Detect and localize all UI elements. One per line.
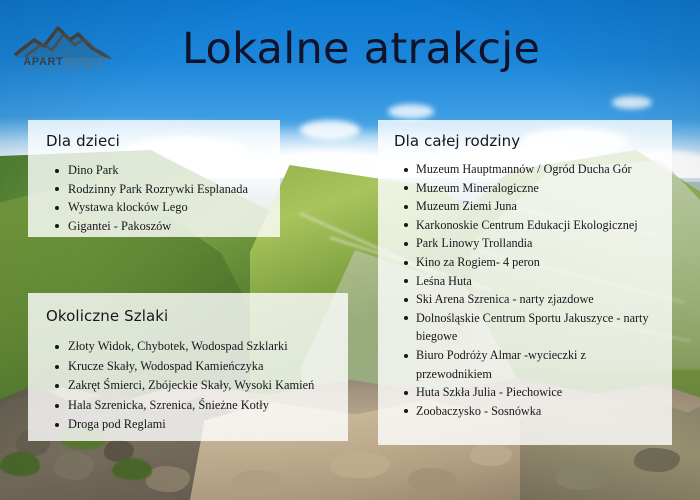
boulder <box>54 452 94 480</box>
cloud-shape <box>612 96 652 109</box>
attraction-list-kids: Dino Park Rodzinny Park Rozrywki Esplana… <box>46 161 266 235</box>
panel-heading-kids: Dla dzieci <box>46 132 266 150</box>
list-item: Hala Szrenicka, Szrenica, Śnieżne Kotły <box>68 396 338 416</box>
list-item: Ski Arena Szrenica - narty zjazdowe <box>416 290 664 309</box>
list-item: Wystawa klocków Lego <box>68 198 266 217</box>
list-item: Droga pod Reglami <box>68 415 338 435</box>
list-item: Muzeum Hauptmannów / Ogród Ducha Gór <box>416 160 664 179</box>
page-title: Lokalne atrakcje <box>182 24 540 74</box>
list-item: Rodzinny Park Rozrywki Esplanada <box>68 180 266 199</box>
list-item: Dolnośląskie Centrum Sportu Jakuszyce - … <box>416 309 664 346</box>
boulder <box>232 470 284 494</box>
list-item: Park Linowy Trollandia <box>416 234 664 253</box>
boulder <box>330 452 390 478</box>
list-item: Huta Szkła Julia - Piechowice <box>416 383 664 402</box>
panel-okoliczne-szlaki: Okoliczne Szlaki Złoty Widok, Chybotek, … <box>28 293 348 441</box>
attraction-list-family: Muzeum Hauptmannów / Ogród Ducha Gór Muz… <box>394 160 664 420</box>
list-item: Kino za Rogiem- 4 peron <box>416 253 664 272</box>
shrub <box>0 452 40 476</box>
cloud-shape <box>388 104 434 119</box>
boulder <box>146 466 190 492</box>
list-item: Leśna Huta <box>416 272 664 291</box>
logo-tagline: NIERUCHOMOŚCI <box>12 66 118 73</box>
poster-canvas: APARTINVEST NIERUCHOMOŚCI Lokalne atrakc… <box>0 0 700 500</box>
list-item: Zoobaczysko - Sosnówka <box>416 402 664 421</box>
list-item: Muzeum Ziemi Juna <box>416 197 664 216</box>
cloud-shape <box>300 120 360 140</box>
shrub <box>112 458 152 480</box>
panel-heading-family: Dla całej rodziny <box>394 132 664 150</box>
list-item: Dino Park <box>68 161 266 180</box>
list-item: Złoty Widok, Chybotek, Wodospad Szklarki <box>68 337 338 357</box>
panel-dla-calej-rodziny: Dla całej rodziny Muzeum Hauptmannów / O… <box>378 120 672 445</box>
boulder <box>556 464 610 490</box>
list-item: Zakręt Śmierci, Zbójeckie Skały, Wysoki … <box>68 376 338 396</box>
list-item: Krucze Skały, Wodospad Kamieńczyka <box>68 357 338 377</box>
boulder <box>634 448 680 472</box>
panel-heading-trails: Okoliczne Szlaki <box>46 307 338 325</box>
panel-dla-dzieci: Dla dzieci Dino Park Rodzinny Park Rozry… <box>28 120 280 237</box>
list-item: Muzeum Mineralogiczne <box>416 179 664 198</box>
list-item: Biuro Podróży Almar -wycieczki z przewod… <box>416 346 664 383</box>
list-item: Gigantei - Pakoszów <box>68 217 266 236</box>
attraction-list-trails: Złoty Widok, Chybotek, Wodospad Szklarki… <box>46 337 338 435</box>
boulder <box>470 444 512 466</box>
apartinvest-logo[interactable]: APARTINVEST NIERUCHOMOŚCI <box>12 14 118 76</box>
list-item: Karkonoskie Centrum Edukacji Ekologiczne… <box>416 216 664 235</box>
boulder <box>408 468 456 492</box>
